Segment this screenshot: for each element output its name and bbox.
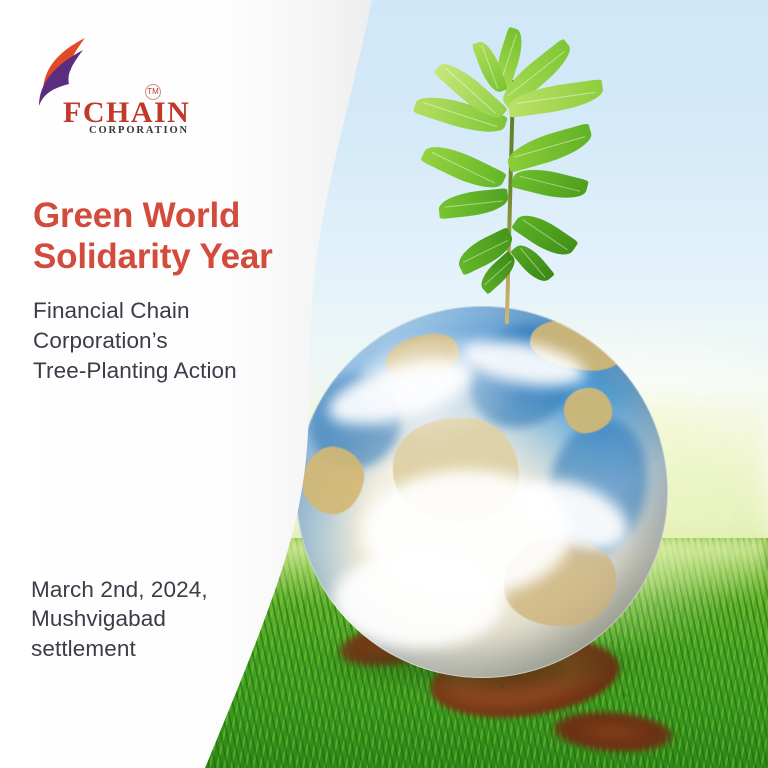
trademark-icon: TM bbox=[145, 84, 161, 100]
logo-tagline: CORPORATION bbox=[89, 126, 189, 137]
page-title: Green World Solidarity Year bbox=[33, 196, 273, 278]
logo-wordmark: FCHAIN bbox=[63, 98, 190, 128]
event-details: March 2nd, 2024, Mushvigabad settlement bbox=[31, 575, 208, 663]
subtitle: Financial Chain Corporation’s Tree-Plant… bbox=[33, 296, 237, 386]
fchain-corporation-logo[interactable]: FCHAIN CORPORATION TM bbox=[33, 36, 173, 138]
poster-canvas: FCHAIN CORPORATION TM Green World Solida… bbox=[0, 0, 768, 768]
